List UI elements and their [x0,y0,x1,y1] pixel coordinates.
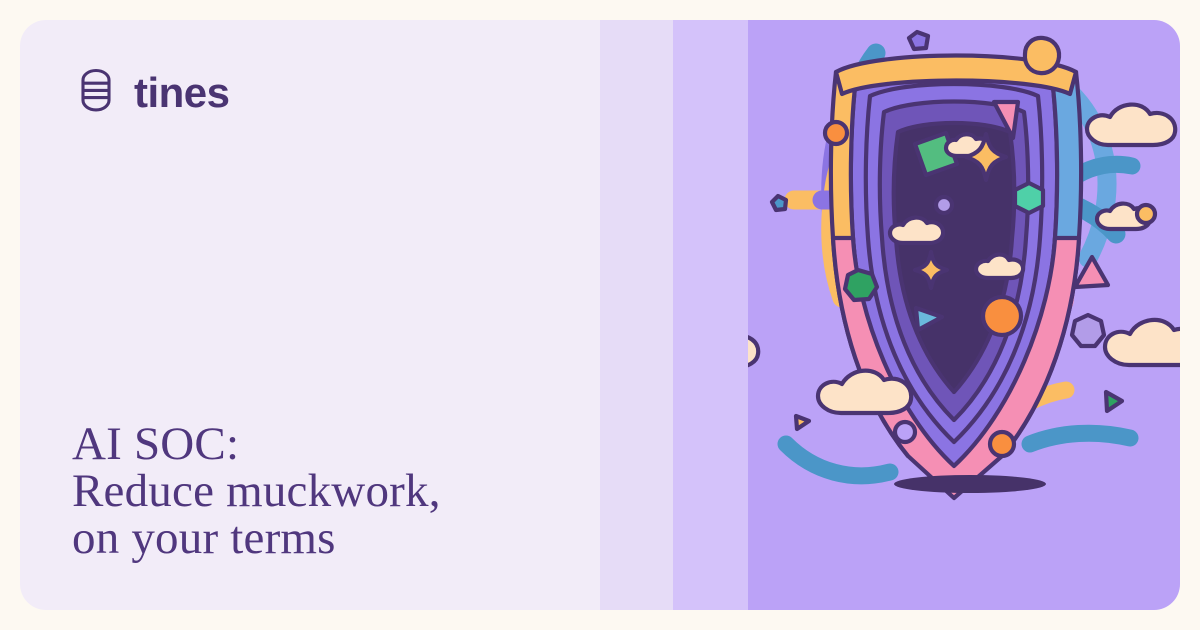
page-title: AI SOC: Reduce muckwork, on your terms [72,421,441,562]
shield-illustration-svg [748,20,1180,610]
og-card: tines AI SOC: Reduce muckwork, on your t… [20,20,1180,610]
shield-hero-illustration [748,20,1180,610]
tines-barrel-logo-icon [72,66,120,119]
shield-shadow [894,475,1046,493]
brand-wordmark: tines [134,72,230,114]
background-band-light [600,20,673,610]
brand-logo: tines [72,66,230,119]
background-band-medium [673,20,748,610]
